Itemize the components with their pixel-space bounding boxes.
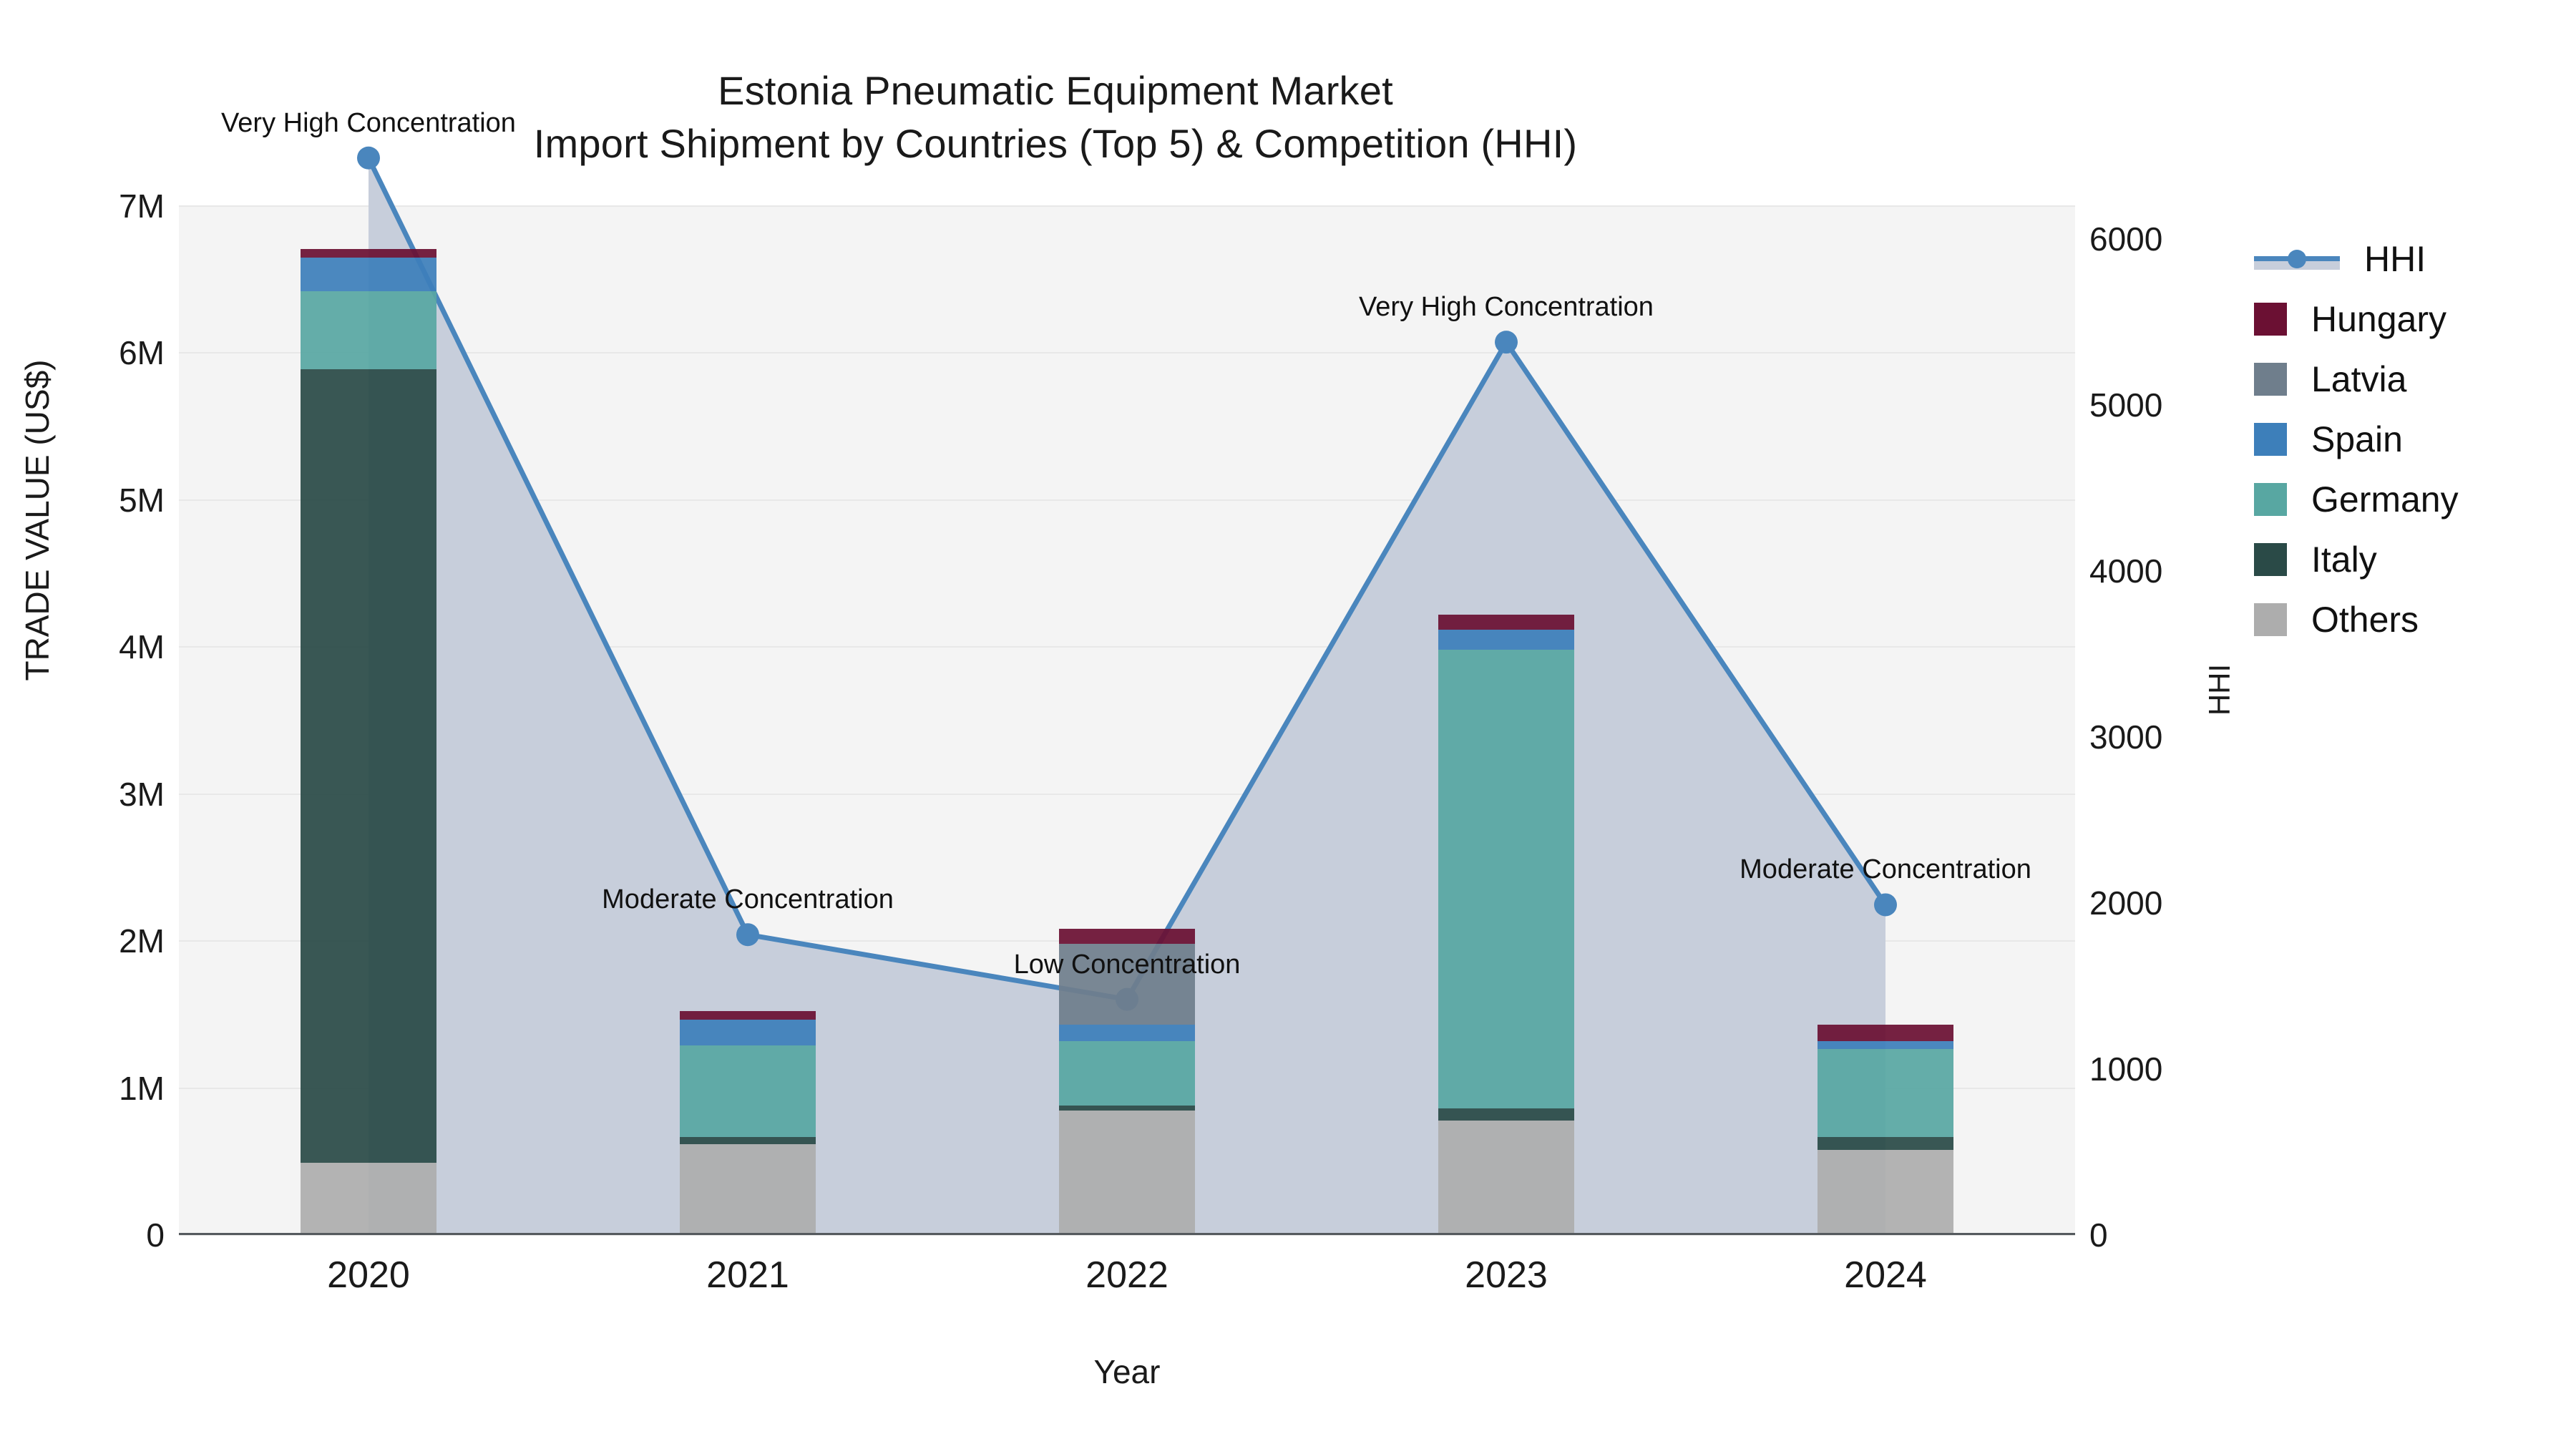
legend-item-others[interactable]: Others <box>2254 590 2569 650</box>
legend-swatch-icon <box>2254 603 2287 636</box>
legend-item-label: Germany <box>2311 482 2459 517</box>
bar-segment-germany[interactable] <box>301 291 436 369</box>
x-axis-line <box>179 1233 2075 1235</box>
concentration-annotation: Moderate Concentration <box>1740 854 2031 885</box>
bar-segment-spain[interactable] <box>1818 1041 1953 1049</box>
x-axis-tick-2020: 2020 <box>225 1254 512 1297</box>
y-axis-left-tick: 5M <box>43 481 165 519</box>
legend-item-hungary[interactable]: Hungary <box>2254 289 2569 349</box>
bar-segment-italy[interactable] <box>1059 1106 1195 1111</box>
plot-inner: Very High ConcentrationModerate Concentr… <box>179 206 2075 1235</box>
legend-item-italy[interactable]: Italy <box>2254 530 2569 590</box>
bar-segment-italy[interactable] <box>680 1137 816 1143</box>
hhi-marker[interactable] <box>1495 331 1518 353</box>
legend-swatch-icon <box>2254 423 2287 456</box>
hhi-marker[interactable] <box>357 147 380 170</box>
legend-item-hhi[interactable]: HHI <box>2254 229 2569 289</box>
bar-segment-spain[interactable] <box>1438 630 1574 650</box>
legend-item-label: Hungary <box>2311 301 2446 337</box>
bar-segment-italy[interactable] <box>301 369 436 1163</box>
legend-swatch-icon <box>2254 363 2287 396</box>
bar-segment-spain[interactable] <box>680 1020 816 1045</box>
legend-swatch-icon <box>2254 483 2287 516</box>
legend-item-label: HHI <box>2364 241 2426 277</box>
x-axis-tick-2022: 2022 <box>984 1254 1270 1297</box>
y-axis-right-tick: 0 <box>2089 1216 2233 1254</box>
y-axis-left-tick: 3M <box>43 775 165 814</box>
legend-item-spain[interactable]: Spain <box>2254 409 2569 469</box>
y-axis-right-tick: 6000 <box>2089 220 2233 258</box>
y-axis-left-tick: 2M <box>43 922 165 960</box>
bar-segment-hungary[interactable] <box>1059 929 1195 945</box>
bar-segment-hungary[interactable] <box>1818 1025 1953 1041</box>
bar-segment-hungary[interactable] <box>301 249 436 258</box>
y-axis-right-tick: 2000 <box>2089 884 2233 922</box>
bar-segment-germany[interactable] <box>1438 650 1574 1108</box>
bar-segment-germany[interactable] <box>680 1045 816 1137</box>
y-axis-left-tick: 7M <box>43 187 165 225</box>
concentration-annotation: Very High Concentration <box>1359 292 1654 323</box>
concentration-annotation: Low Concentration <box>1014 950 1241 980</box>
y-axis-right-tick: 5000 <box>2089 386 2233 424</box>
legend-item-germany[interactable]: Germany <box>2254 469 2569 530</box>
bar-segment-spain[interactable] <box>1059 1025 1195 1041</box>
x-axis-tick-2021: 2021 <box>605 1254 891 1297</box>
y-axis-left-tick: 6M <box>43 333 165 372</box>
bar-segment-others[interactable] <box>1438 1121 1574 1235</box>
y-axis-right-label: HHI <box>2202 582 2237 797</box>
legend-swatch-icon <box>2254 303 2287 336</box>
legend-line-marker-icon <box>2254 243 2340 275</box>
bar-segment-spain[interactable] <box>301 258 436 291</box>
bar-segment-germany[interactable] <box>1818 1049 1953 1137</box>
y-axis-left-tick: 4M <box>43 628 165 666</box>
bar-segment-others[interactable] <box>301 1163 436 1235</box>
bar-segment-germany[interactable] <box>1059 1041 1195 1106</box>
bar-segment-hungary[interactable] <box>1438 615 1574 630</box>
legend-line-dot-icon <box>2288 250 2306 268</box>
bar-segment-others[interactable] <box>1059 1111 1195 1235</box>
x-axis-tick-2023: 2023 <box>1363 1254 1649 1297</box>
y-axis-left-tick: 0 <box>43 1216 165 1254</box>
legend-swatch-icon <box>2254 543 2287 576</box>
concentration-annotation: Very High Concentration <box>221 108 516 139</box>
bar-segment-italy[interactable] <box>1818 1137 1953 1149</box>
hhi-marker[interactable] <box>1874 893 1897 916</box>
legend-item-latvia[interactable]: Latvia <box>2254 349 2569 409</box>
legend-item-label: Italy <box>2311 542 2377 577</box>
bar-segment-italy[interactable] <box>1438 1108 1574 1120</box>
plot-area: Very High ConcentrationModerate Concentr… <box>179 206 2075 1235</box>
x-axis-tick-2024: 2024 <box>1742 1254 2029 1297</box>
bar-segment-hungary[interactable] <box>680 1011 816 1020</box>
x-axis-label: Year <box>179 1352 2075 1391</box>
y-axis-left-tick: 1M <box>43 1069 165 1108</box>
legend-item-label: Latvia <box>2311 361 2406 397</box>
y-axis-right-tick: 1000 <box>2089 1050 2233 1088</box>
bar-segment-others[interactable] <box>680 1144 816 1235</box>
bar-segment-others[interactable] <box>1818 1150 1953 1235</box>
hhi-marker[interactable] <box>736 923 759 946</box>
legend-item-label: Others <box>2311 602 2419 638</box>
concentration-annotation: Moderate Concentration <box>602 884 894 915</box>
legend: HHIHungaryLatviaSpainGermanyItalyOthers <box>2254 229 2569 650</box>
legend-item-label: Spain <box>2311 421 2403 457</box>
